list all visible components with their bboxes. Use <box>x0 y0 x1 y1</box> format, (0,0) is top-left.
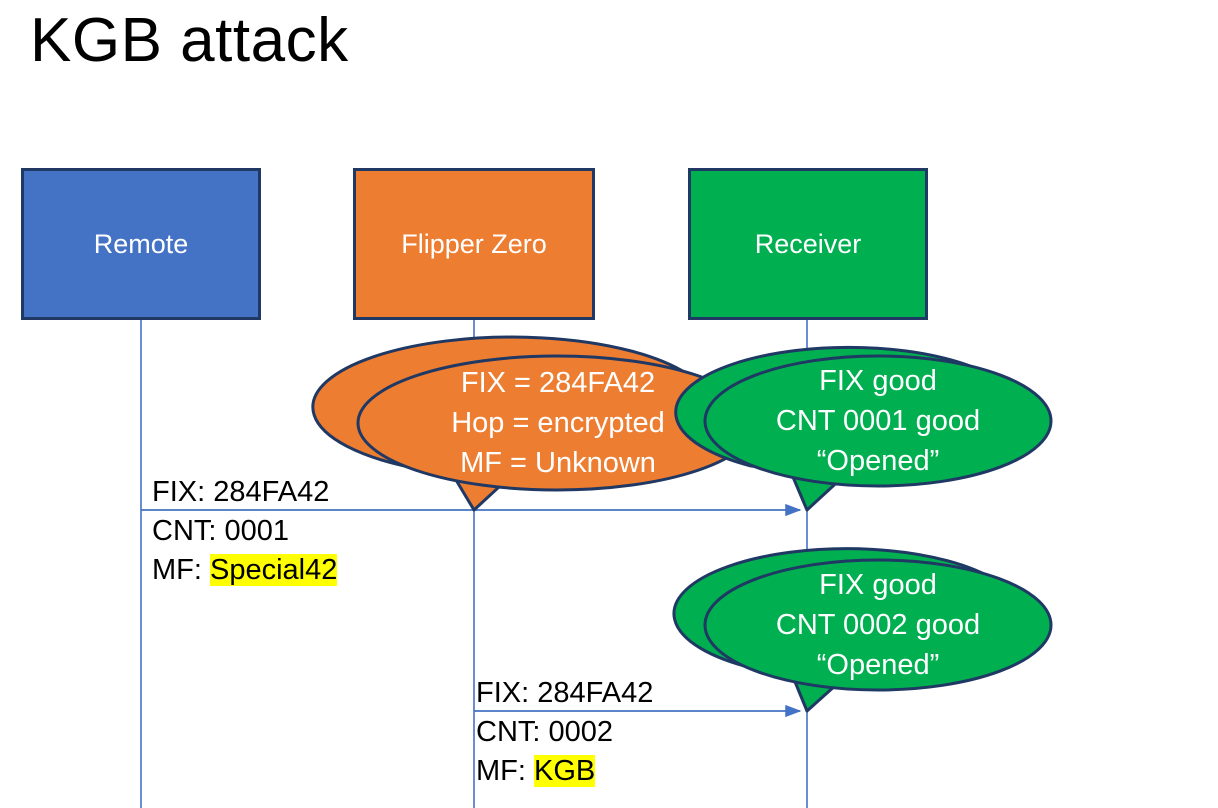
message-label-2: FIX: 284FA42 CNT: 0002 MF: KGB <box>476 674 653 791</box>
message-prefix: MF: <box>152 554 210 586</box>
message-prefix: CNT: <box>476 716 549 748</box>
message-prefix: MF: <box>476 755 534 787</box>
message-value: 284FA42 <box>537 677 653 709</box>
message-line: CNT: 0002 <box>476 713 653 752</box>
actor-label-flipper: Flipper Zero <box>401 228 547 260</box>
message-prefix: FIX: <box>476 677 537 709</box>
callout-receiver-ok-2 <box>674 549 1051 711</box>
message-value-highlighted: Special42 <box>210 554 337 586</box>
actor-box-receiver[interactable]: Receiver <box>688 168 928 320</box>
message-line: MF: KGB <box>476 752 653 791</box>
message-value: 0002 <box>549 716 614 748</box>
message-value: 0001 <box>225 515 290 547</box>
message-line: FIX: 284FA42 <box>152 473 337 512</box>
actor-box-remote[interactable]: Remote <box>21 168 261 320</box>
message-value: 284FA42 <box>213 476 329 508</box>
message-value-highlighted: KGB <box>534 755 595 787</box>
callout-receiver-ok-1 <box>676 347 1051 510</box>
message-line: FIX: 284FA42 <box>476 674 653 713</box>
message-prefix: FIX: <box>152 476 213 508</box>
message-line: MF: Special42 <box>152 551 337 590</box>
message-line: CNT: 0001 <box>152 512 337 551</box>
message-label-1: FIX: 284FA42 CNT: 0001 MF: Special42 <box>152 473 337 590</box>
actor-box-flipper[interactable]: Flipper Zero <box>353 168 595 320</box>
actor-label-remote: Remote <box>94 228 189 260</box>
message-prefix: CNT: <box>152 515 225 547</box>
actor-label-receiver: Receiver <box>755 228 862 260</box>
slide-canvas: KGB attack R <box>0 0 1218 808</box>
